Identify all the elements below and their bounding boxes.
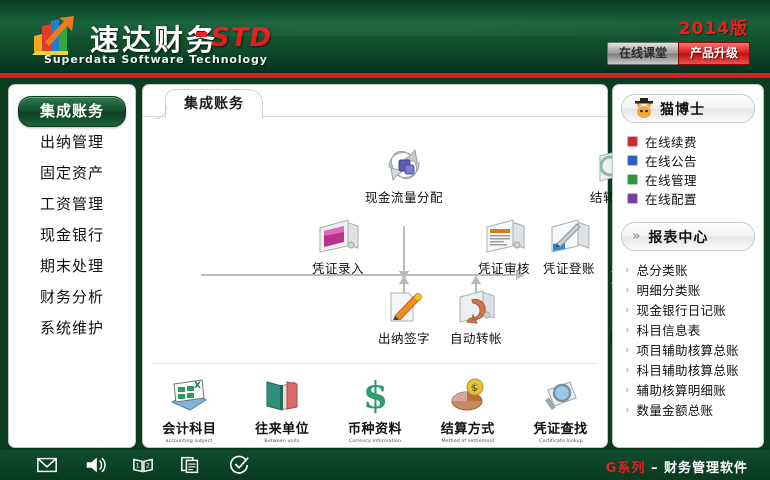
- report-item-general-ledger[interactable]: › 总分类账: [625, 259, 763, 279]
- online-item-management[interactable]: 在线管理: [627, 170, 763, 189]
- status-bar-icons: 1 2: [36, 455, 250, 475]
- doctor-cat-icon: [632, 98, 656, 120]
- report-item-label: 明细分类账: [637, 280, 701, 299]
- chevron-right-icon: ›: [625, 283, 630, 296]
- online-renew-icon: [627, 136, 638, 147]
- shortcut-sublabel: Between units: [244, 438, 320, 444]
- brand-suffix: STD: [211, 23, 272, 53]
- product-upgrade-button[interactable]: 产品升级: [678, 42, 750, 65]
- report-item-project-aux-ledger[interactable]: › 项目辅助核算总账: [625, 339, 763, 359]
- sidebar-item-period-end[interactable]: 期末处理: [9, 251, 135, 282]
- chevron-right-icon: ›: [625, 343, 630, 356]
- doctor-cat-header[interactable]: 猫博士: [621, 94, 755, 123]
- shortcut-sublabel: Method of settlement: [430, 438, 506, 444]
- currency-information-icon: $: [335, 373, 415, 417]
- svg-text:1: 1: [136, 462, 140, 470]
- chevron-right-icon: ›: [625, 323, 630, 336]
- report-item-label: 科目信息表: [637, 320, 701, 339]
- report-item-subsidiary-ledger[interactable]: › 明细分类账: [625, 279, 763, 299]
- shortcut-between-units[interactable]: 往来单位 Between units: [242, 373, 322, 444]
- year-badge: 2014版: [679, 14, 748, 39]
- doctor-cat-title: 猫博士: [660, 99, 705, 119]
- shortcut-row: X 会计科目 accounting subject 往来单位 Between u…: [143, 373, 607, 444]
- double-chevron-icon: »: [632, 229, 640, 244]
- shortcut-sublabel: Currency information: [337, 438, 413, 444]
- main-divider: [153, 363, 597, 364]
- svg-text:$: $: [363, 376, 388, 414]
- svg-text:2: 2: [146, 462, 150, 470]
- report-list: › 总分类账 › 明细分类账 › 现金银行日记账 › 科目信息表 › 项目辅助核…: [625, 259, 763, 419]
- sidebar-item-system-maintenance[interactable]: 系统维护: [9, 313, 135, 344]
- footer-series-label: G系列: [606, 461, 646, 476]
- header-accent-line: [0, 73, 770, 78]
- workflow-node-label: 凭证录入: [295, 258, 381, 277]
- workflow-node-voucher-entry[interactable]: 凭证录入: [295, 214, 381, 277]
- workflow-node-label: 凭证登账: [526, 258, 612, 277]
- shortcut-label: 结算方式: [428, 418, 508, 437]
- header-buttons: 在线课堂 产品升级: [607, 42, 750, 63]
- shortcut-label: 凭证查找: [521, 418, 601, 437]
- tab-bar: 集成账务: [143, 85, 607, 118]
- book-icon[interactable]: 1 2: [132, 455, 154, 475]
- online-management-icon: [627, 174, 638, 185]
- workflow-node-cash-flow-allocation[interactable]: 现金流量分配: [361, 143, 447, 206]
- sidebar-menu: 集成账务 出纳管理 固定资产 工资管理 现金银行 期末处理 财务分析 系统维护: [9, 96, 135, 344]
- report-item-subject-aux-ledger[interactable]: › 科目辅助核算总账: [625, 359, 763, 379]
- sidebar-item-cash-bank[interactable]: 现金银行: [9, 220, 135, 251]
- main-panel: 集成账务: [142, 84, 608, 448]
- online-item-renew[interactable]: 在线续费: [627, 132, 763, 151]
- report-item-quantity-amount-ledger[interactable]: › 数量金额总账: [625, 399, 763, 419]
- report-item-label: 数量金额总账: [637, 400, 714, 419]
- sidebar-item-integrated-accounting[interactable]: 集成账务: [18, 96, 126, 127]
- chevron-right-icon: ›: [625, 383, 630, 396]
- online-announcement-icon: [627, 155, 638, 166]
- certificate-lookup-icon: [521, 373, 601, 417]
- online-item-label: 在线配置: [645, 189, 697, 208]
- check-circle-icon[interactable]: [228, 455, 250, 475]
- report-item-label: 科目辅助核算总账: [637, 360, 739, 379]
- sidebar-panel: 集成账务 出纳管理 固定资产 工资管理 现金银行 期末处理 财务分析 系统维护: [8, 84, 136, 448]
- shortcut-label: 往来单位: [242, 418, 322, 437]
- online-item-configuration[interactable]: 在线配置: [627, 189, 763, 208]
- report-item-aux-detail-ledger[interactable]: › 辅助核算明细账: [625, 379, 763, 399]
- cash-flow-allocation-icon: [361, 143, 447, 185]
- sidebar-item-cashier-management[interactable]: 出纳管理: [9, 127, 135, 158]
- arrow-cashflow-down: [403, 226, 405, 272]
- chevron-right-icon: ›: [625, 263, 630, 276]
- report-center-header[interactable]: » 报表中心: [621, 222, 755, 251]
- online-configuration-icon: [627, 193, 638, 204]
- voucher-entry-icon: [295, 214, 381, 256]
- application-window: 速达财务 STD Superdata Software Technology 2…: [0, 0, 770, 480]
- svg-text:X: X: [194, 381, 201, 391]
- online-item-label: 在线管理: [645, 170, 697, 189]
- online-classroom-button[interactable]: 在线课堂: [607, 42, 678, 65]
- sidebar-item-fixed-assets[interactable]: 固定资产: [9, 158, 135, 189]
- svg-text:$: $: [471, 384, 477, 394]
- tab-integrated-accounting[interactable]: 集成账务: [165, 89, 263, 118]
- auto-transfer-icon: [433, 284, 519, 326]
- shortcut-accounting-subject[interactable]: X 会计科目 accounting subject: [149, 373, 229, 444]
- online-item-label: 在线续费: [645, 132, 697, 151]
- report-item-cash-bank-journal[interactable]: › 现金银行日记账: [625, 299, 763, 319]
- shortcut-currency-information[interactable]: $ 币种资料 Currency information: [335, 373, 415, 444]
- brand-dash: [196, 32, 207, 37]
- report-item-subject-info[interactable]: › 科目信息表: [625, 319, 763, 339]
- right-panel: 猫博士 在线续费 在线公告 在线管理 在线配置 » 报表中心: [612, 84, 764, 448]
- workflow-node-voucher-posting[interactable]: 凭证登账: [526, 214, 612, 277]
- online-service-list: 在线续费 在线公告 在线管理 在线配置: [627, 132, 763, 208]
- report-item-label: 总分类账: [637, 260, 688, 279]
- workflow-node-auto-transfer[interactable]: 自动转帐: [433, 284, 519, 347]
- accounting-subject-icon: X: [149, 373, 229, 417]
- footer-product-line: G系列 – 财务管理软件: [606, 457, 748, 476]
- app-header: 速达财务 STD Superdata Software Technology 2…: [0, 0, 770, 73]
- shortcut-sublabel: Certificate lookup: [523, 438, 599, 444]
- chevron-right-icon: ›: [625, 403, 630, 416]
- mail-icon[interactable]: [36, 455, 58, 475]
- speaker-icon[interactable]: [84, 455, 106, 475]
- sidebar-item-financial-analysis[interactable]: 财务分析: [9, 282, 135, 313]
- report-item-label: 辅助核算明细账: [637, 380, 727, 399]
- voucher-posting-icon: [526, 214, 612, 256]
- status-bar: 1 2 G系列 – 财务管理软件: [0, 450, 770, 480]
- chevron-right-icon: ›: [625, 303, 630, 316]
- workflow-node-label: 自动转帐: [433, 328, 519, 347]
- company-logo-icon: [28, 12, 86, 58]
- shortcut-label: 币种资料: [335, 418, 415, 437]
- settlement-method-icon: $: [428, 373, 508, 417]
- shortcut-label: 会计科目: [149, 418, 229, 437]
- chevron-right-icon: ›: [625, 363, 630, 376]
- tab-underline-right: [261, 116, 607, 117]
- shortcut-sublabel: accounting subject: [151, 438, 227, 444]
- online-item-label: 在线公告: [645, 151, 697, 170]
- report-item-label: 项目辅助核算总账: [637, 340, 739, 359]
- sidebar-item-payroll[interactable]: 工资管理: [9, 189, 135, 220]
- online-item-announcement[interactable]: 在线公告: [627, 151, 763, 170]
- shortcut-settlement-method[interactable]: $ 结算方式 Method of settlement: [428, 373, 508, 444]
- report-item-label: 现金银行日记账: [637, 300, 727, 319]
- between-units-icon: [242, 373, 322, 417]
- workflow-node-label: 现金流量分配: [361, 187, 447, 206]
- workflow-diagram: 凭证录入 现金流量分配: [143, 118, 607, 363]
- report-center-title: 报表中心: [648, 227, 708, 247]
- footer-product-label: – 财务管理软件: [651, 461, 748, 476]
- brand-name-en: Superdata Software Technology: [44, 53, 268, 66]
- copy-icon[interactable]: [180, 455, 202, 475]
- shortcut-certificate-lookup[interactable]: 凭证查找 Certificate lookup: [521, 373, 601, 444]
